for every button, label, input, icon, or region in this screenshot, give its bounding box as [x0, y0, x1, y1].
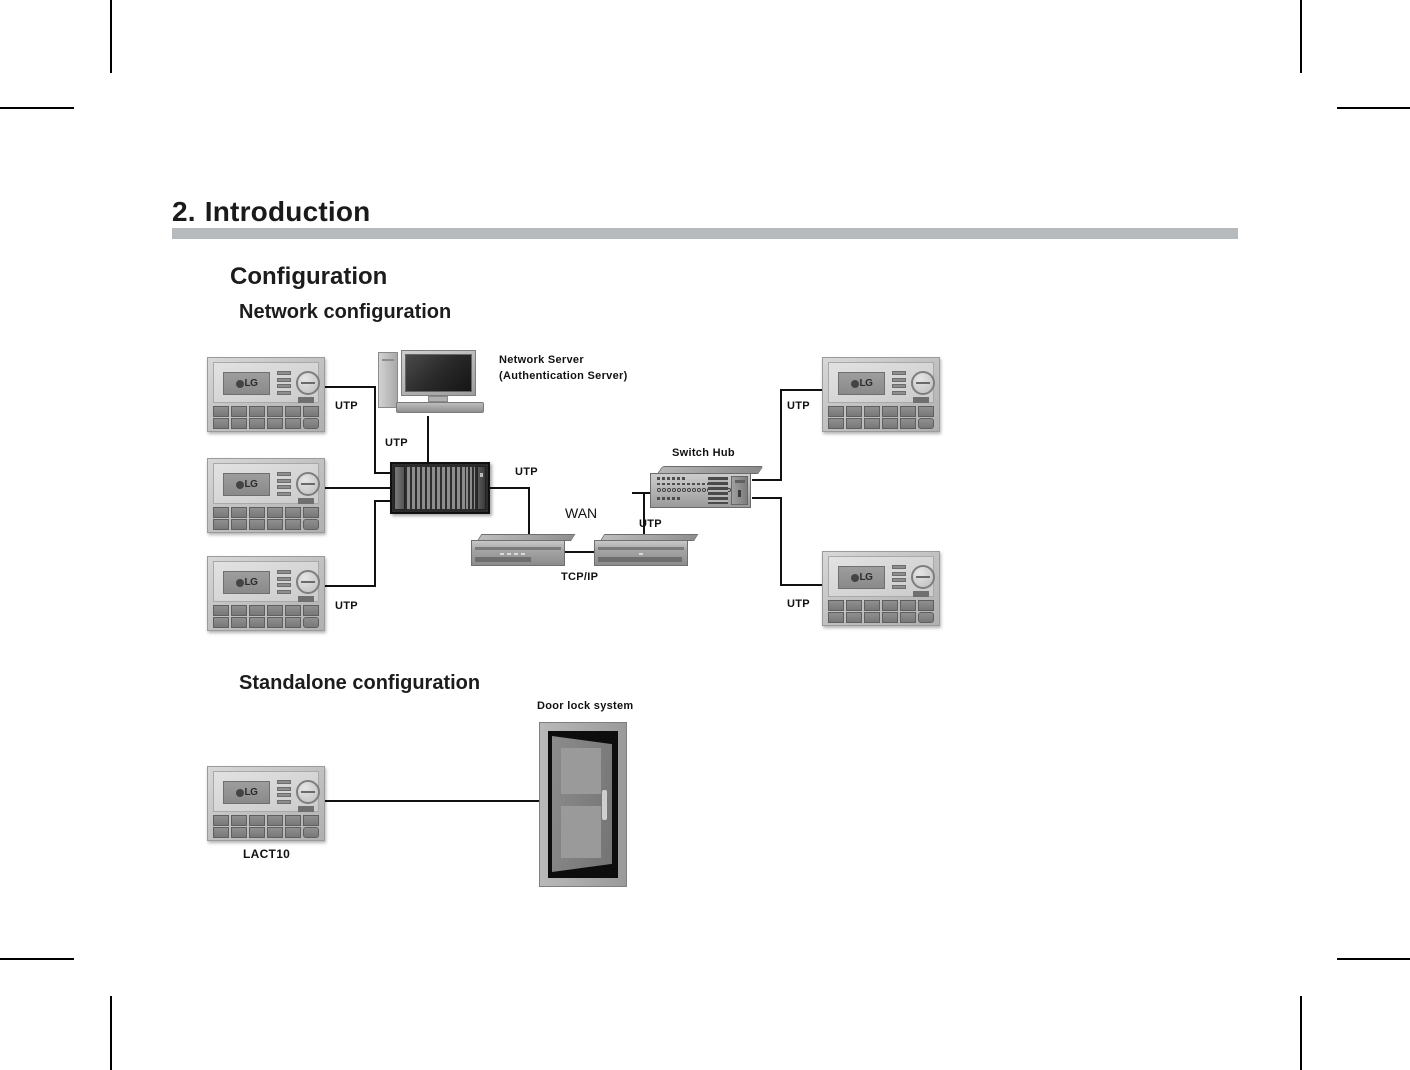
lg-logo: LG: [236, 787, 258, 798]
crop-mark-bottom-right-vertical: [1300, 996, 1302, 1070]
door-panel-upper: [561, 748, 601, 794]
terminal-dial-knob[interactable]: [296, 780, 320, 804]
terminal-upper-panel: LG: [213, 771, 319, 812]
link-terminal-to-door: [324, 800, 543, 802]
door-leaf: [552, 736, 612, 872]
page-canvas: 2.Introduction Configuration Network con…: [0, 0, 1410, 1070]
lg-terminal-standalone[interactable]: LG: [207, 766, 325, 841]
standalone-terminal-label: LACT10: [243, 847, 290, 861]
door-handle: [602, 790, 607, 820]
terminal-brand-mark: [298, 806, 314, 812]
terminal-keypad[interactable]: [213, 815, 319, 838]
standalone-configuration-diagram: LG LACT10 Door lock system: [0, 0, 1410, 1000]
door-lock-system[interactable]: [539, 722, 627, 887]
terminal-lcd-screen: LG: [223, 781, 270, 804]
crop-mark-bottom-left-vertical: [110, 996, 112, 1070]
door-lock-system-label: Door lock system: [537, 700, 634, 712]
terminal-status-leds: [277, 780, 291, 806]
door-panel-lower: [561, 806, 601, 858]
